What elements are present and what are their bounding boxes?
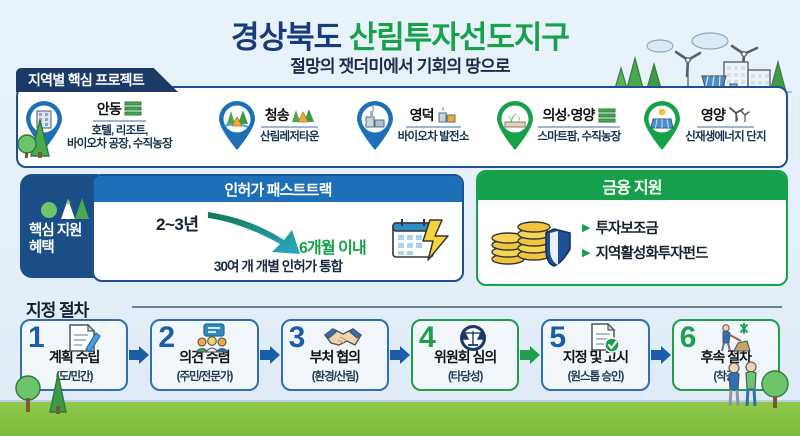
finance-bullet-0: ▶ 투자보조금 [582,217,708,238]
step-connector-arrow [128,345,150,365]
camping-tent-icon [292,108,314,123]
power-plant-icon [353,99,397,151]
step-number: 1 [28,323,45,353]
finance-support-card: 금융 지원 ▶ 투자 [476,170,788,286]
fasttrack-title: 인허가 패스트트랙 [94,176,462,202]
vertical-farm-icon [598,108,616,123]
procedure-step-2[interactable]: 2 의견 수렴 (주민/전문가) [150,319,258,391]
finance-support-bullets: ▶ 투자보조금 ▶ 지역활성화투자펀드 [582,213,708,267]
solar-panel-icon [640,99,684,151]
step-sublabel: (주민/전문가) [177,368,233,384]
bullet-triangle-icon: ▶ [582,246,590,259]
procedure-divider [132,306,782,308]
regional-projects-list: 안동 호텔, 리조트,바이오차 공장, 수직농장 [22,90,778,160]
step-connector-arrow [389,345,411,365]
core-benefit-label: 핵심 지원혜택 [29,223,99,257]
step-connector-arrow [519,345,541,365]
step-number: 5 [549,323,566,353]
procedure-steps: 1 계획 수립 (도/민간) 2 [20,318,780,392]
title-part1: 경상북도 [231,20,341,55]
finance-bullet-1: ▶ 지역활성화투자펀드 [582,242,708,263]
region-desc-yeongyang: 신재생에너지 단지 [685,131,766,144]
step-number: 3 [289,323,306,353]
scales-of-justice-icon [453,323,493,353]
title-part2: 산림투자선도지구 [349,20,569,55]
region-item-yeongdeok[interactable]: 영덕 바이오차 발전소 [353,90,493,160]
region-desc-uiseong-yeongyang: 스마트팜, 수직농장 [538,131,621,144]
tree-cluster-icon [14,364,74,414]
tree-cluster-icon [18,112,64,158]
step-number: 6 [680,323,697,353]
coins-shield-icon [486,211,572,269]
step-sublabel: (원스톱 승인) [568,368,624,384]
infographic-root: 경상북도 산림투자선도지구 절망의 잿더미에서 기회의 땅으로 [0,0,800,436]
people-and-tree-illustration [720,360,790,412]
region-name-uiseong-yeongyang: 의성·영양 [538,105,619,128]
fasttrack-card: 인허가 패스트트랙 2~3년 6개월 이내 [92,174,464,282]
regional-projects-tab-label: 지역별 핵심 프로젝트 [28,70,144,90]
forest-mountain-icon [35,195,93,221]
region-name-cheongsong: 청송 [261,105,318,128]
step-number: 4 [419,323,436,353]
smart-farm-icon [493,99,537,151]
grass-ground [0,402,800,436]
region-item-yeongyang[interactable]: 영양 신재생에너지 단지 [640,90,778,160]
wind-turbine-icon [728,107,750,123]
vertical-farm-icon [124,101,142,116]
finance-support-title: 금융 지원 [478,172,786,200]
regional-projects-tab: 지역별 핵심 프로젝트 [16,68,178,92]
factory-icon [437,107,457,123]
region-item-cheongsong[interactable]: 청송 산림레저타운 [215,90,353,160]
document-check-icon [583,323,623,353]
procedure-step-5[interactable]: 5 지정 및 고시 (원스톱 승인) [541,319,649,391]
finance-support-body: ▶ 투자보조금 ▶ 지역활성화투자펀드 [478,200,786,280]
people-chat-icon [192,323,232,353]
fasttrack-from-value: 2~3년 [156,210,198,235]
region-desc-cheongsong: 산림레저타운 [260,131,319,144]
step-connector-arrow [259,345,281,365]
forest-camp-icon [215,99,259,151]
region-desc-anduong: 호텔, 리조트,바이오차 공장, 수직농장 [67,125,172,151]
fasttrack-note: 30여 개 개별 인허가 통합 [94,255,462,275]
region-name-yeongdeok: 영덕 [406,105,461,128]
region-name-anduong: 안동 [93,99,146,122]
procedure-step-3[interactable]: 3 부처 협의 (환경/산림) [281,319,389,391]
handshake-icon [323,323,363,353]
region-item-uiseong-yeongyang[interactable]: 의성·영양 스마트팜, 수직농장 [493,90,641,160]
region-desc-yeongdeok: 바이오차 발전소 [398,131,469,144]
groundbreaking-icon [714,323,754,353]
procedure-step-4[interactable]: 4 위원회 심의 (타당성) [411,319,519,391]
step-sublabel: (타당성) [448,368,482,384]
step-sublabel: (환경/산림) [312,368,358,384]
step-connector-arrow [650,345,672,365]
bullet-triangle-icon: ▶ [582,221,590,234]
fasttrack-body: 2~3년 6개월 이내 [94,202,462,276]
step-number: 2 [158,323,175,353]
region-name-yeongyang: 영양 [697,105,754,128]
document-pencil-icon [62,323,102,353]
